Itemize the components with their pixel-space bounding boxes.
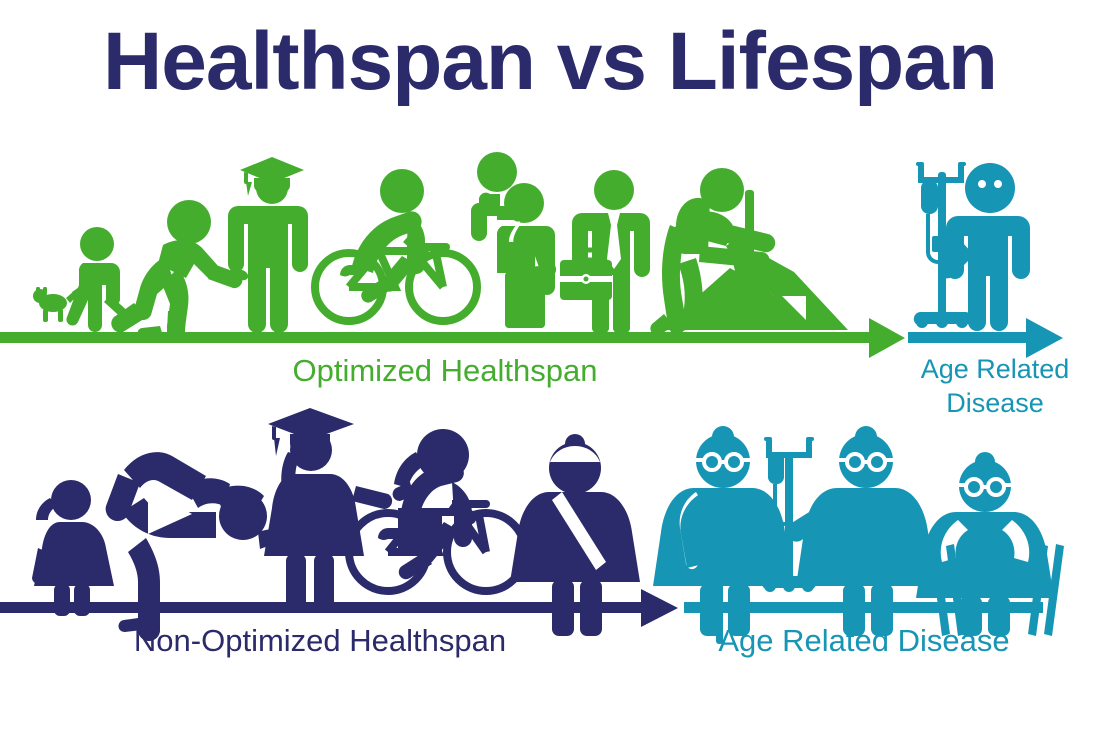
running-child-figure (111, 200, 248, 341)
iv-bag-icon (768, 452, 784, 484)
bottom-age-related-disease-bar (684, 602, 1043, 613)
elderly-man-with-iv-figure (914, 162, 1030, 331)
male-graduate-figure (228, 157, 308, 333)
parent-lifting-child-figure: 7 (471, 152, 556, 328)
non-optimized-healthspan-label: Non-Optimized Healthspan (0, 622, 640, 660)
male-cyclist-figure (315, 169, 477, 321)
female-graduate-figure (264, 408, 392, 610)
optimized-healthspan-label: Optimized Healthspan (0, 352, 890, 390)
eye-icon (978, 180, 986, 188)
eye-icon (994, 180, 1002, 188)
age-related-disease-line-2: Disease (946, 388, 1044, 418)
businessman-figure (560, 170, 650, 335)
hiker-on-mountain-figure (650, 168, 848, 336)
female-cyclist-figure (349, 429, 525, 591)
infographic-canvas: Healthspan vs Lifespan (0, 0, 1100, 733)
age-related-disease-line-1: Age Related (921, 354, 1070, 384)
young-girl-figure (32, 480, 114, 616)
iv-bag-icon (921, 180, 938, 214)
shirt-number-text: 7 (505, 216, 522, 249)
top-age-related-disease-label: Age Related Disease (890, 352, 1100, 420)
bottom-age-related-disease-label: Age Related Disease (680, 622, 1048, 660)
